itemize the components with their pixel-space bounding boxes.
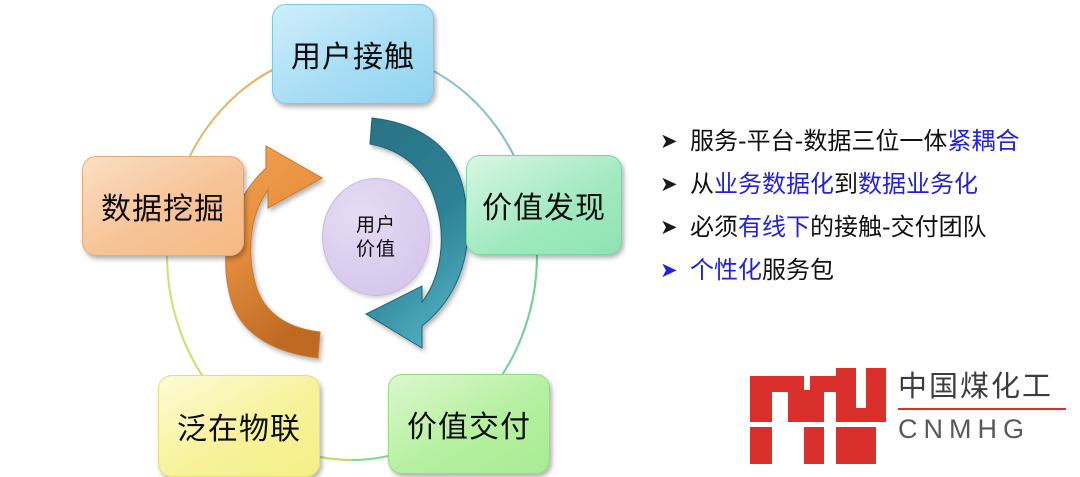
- bullet-arrow-icon: ➤: [660, 255, 690, 285]
- bullet-text: 从业务数据化到数据业务化: [690, 169, 978, 199]
- slide-canvas: 用户接触 价值发现 价值交付 泛在物联 数据挖掘 用户 价值 ➤服务-平台-数据…: [0, 0, 1080, 476]
- bullet-plain: 从: [690, 170, 714, 198]
- logo-wordmark: 中国煤化工 CNMHG: [898, 368, 1070, 446]
- company-logo: 中国煤化工 CNMHG: [748, 362, 1068, 472]
- bullet-plain: 必须: [690, 213, 738, 241]
- center-label-line1: 用户: [356, 213, 396, 237]
- bullet-item: ➤必须有线下的接触-交付团队: [660, 212, 1080, 242]
- cycle-diagram: 用户接触 价值发现 价值交付 泛在物联 数据挖掘 用户 价值: [0, 0, 660, 476]
- bullet-highlight: 数据业务化: [858, 170, 978, 198]
- bullet-text: 服务-平台-数据三位一体紧耦合: [690, 126, 1019, 156]
- node-label: 数据挖掘: [101, 184, 225, 228]
- node-label: 价值交付: [407, 402, 531, 446]
- bullet-highlight: 个性化: [690, 256, 762, 284]
- node-data-mining[interactable]: 数据挖掘: [82, 156, 244, 256]
- logo-chinese-name: 中国煤化工: [898, 368, 1070, 404]
- bullet-arrow-icon: ➤: [660, 212, 690, 242]
- node-label: 用户接触: [291, 32, 415, 76]
- bullet-text: 必须有线下的接触-交付团队: [690, 212, 987, 242]
- bullet-text: 个性化服务包: [690, 255, 834, 285]
- bullet-plain: 到: [834, 170, 858, 198]
- logo-english-name: CNMHG: [898, 413, 1070, 446]
- bullet-highlight: 业务数据化: [714, 170, 834, 198]
- bullet-plain: 的接触-交付团队: [810, 213, 987, 241]
- bullet-item: ➤个性化服务包: [660, 255, 1080, 285]
- center-user-value-circle[interactable]: 用户 价值: [322, 178, 430, 296]
- bullet-arrow-icon: ➤: [660, 169, 690, 199]
- bullet-arrow-icon: ➤: [660, 126, 690, 156]
- node-value-discovery[interactable]: 价值发现: [466, 155, 622, 255]
- logo-divider: [898, 408, 1066, 410]
- center-label-line2: 价值: [356, 237, 396, 261]
- node-ubiquitous-iot[interactable]: 泛在物联: [158, 375, 320, 477]
- node-label: 泛在物联: [177, 404, 301, 448]
- node-value-delivery[interactable]: 价值交付: [388, 374, 550, 474]
- bullet-plain: 服务包: [762, 256, 834, 284]
- bullet-list: ➤服务-平台-数据三位一体紧耦合➤从业务数据化到数据业务化➤必须有线下的接触-交…: [660, 126, 1080, 298]
- bullet-highlight: 紧耦合: [947, 127, 1019, 155]
- bullet-plain: 服务-平台-数据三位一体: [690, 127, 947, 155]
- mh-monogram-icon: [748, 366, 888, 466]
- bullet-item: ➤服务-平台-数据三位一体紧耦合: [660, 126, 1080, 156]
- node-user-contact[interactable]: 用户接触: [272, 4, 434, 104]
- node-label: 价值发现: [482, 183, 606, 227]
- bullet-highlight: 有线下: [738, 213, 810, 241]
- bullet-item: ➤从业务数据化到数据业务化: [660, 169, 1080, 199]
